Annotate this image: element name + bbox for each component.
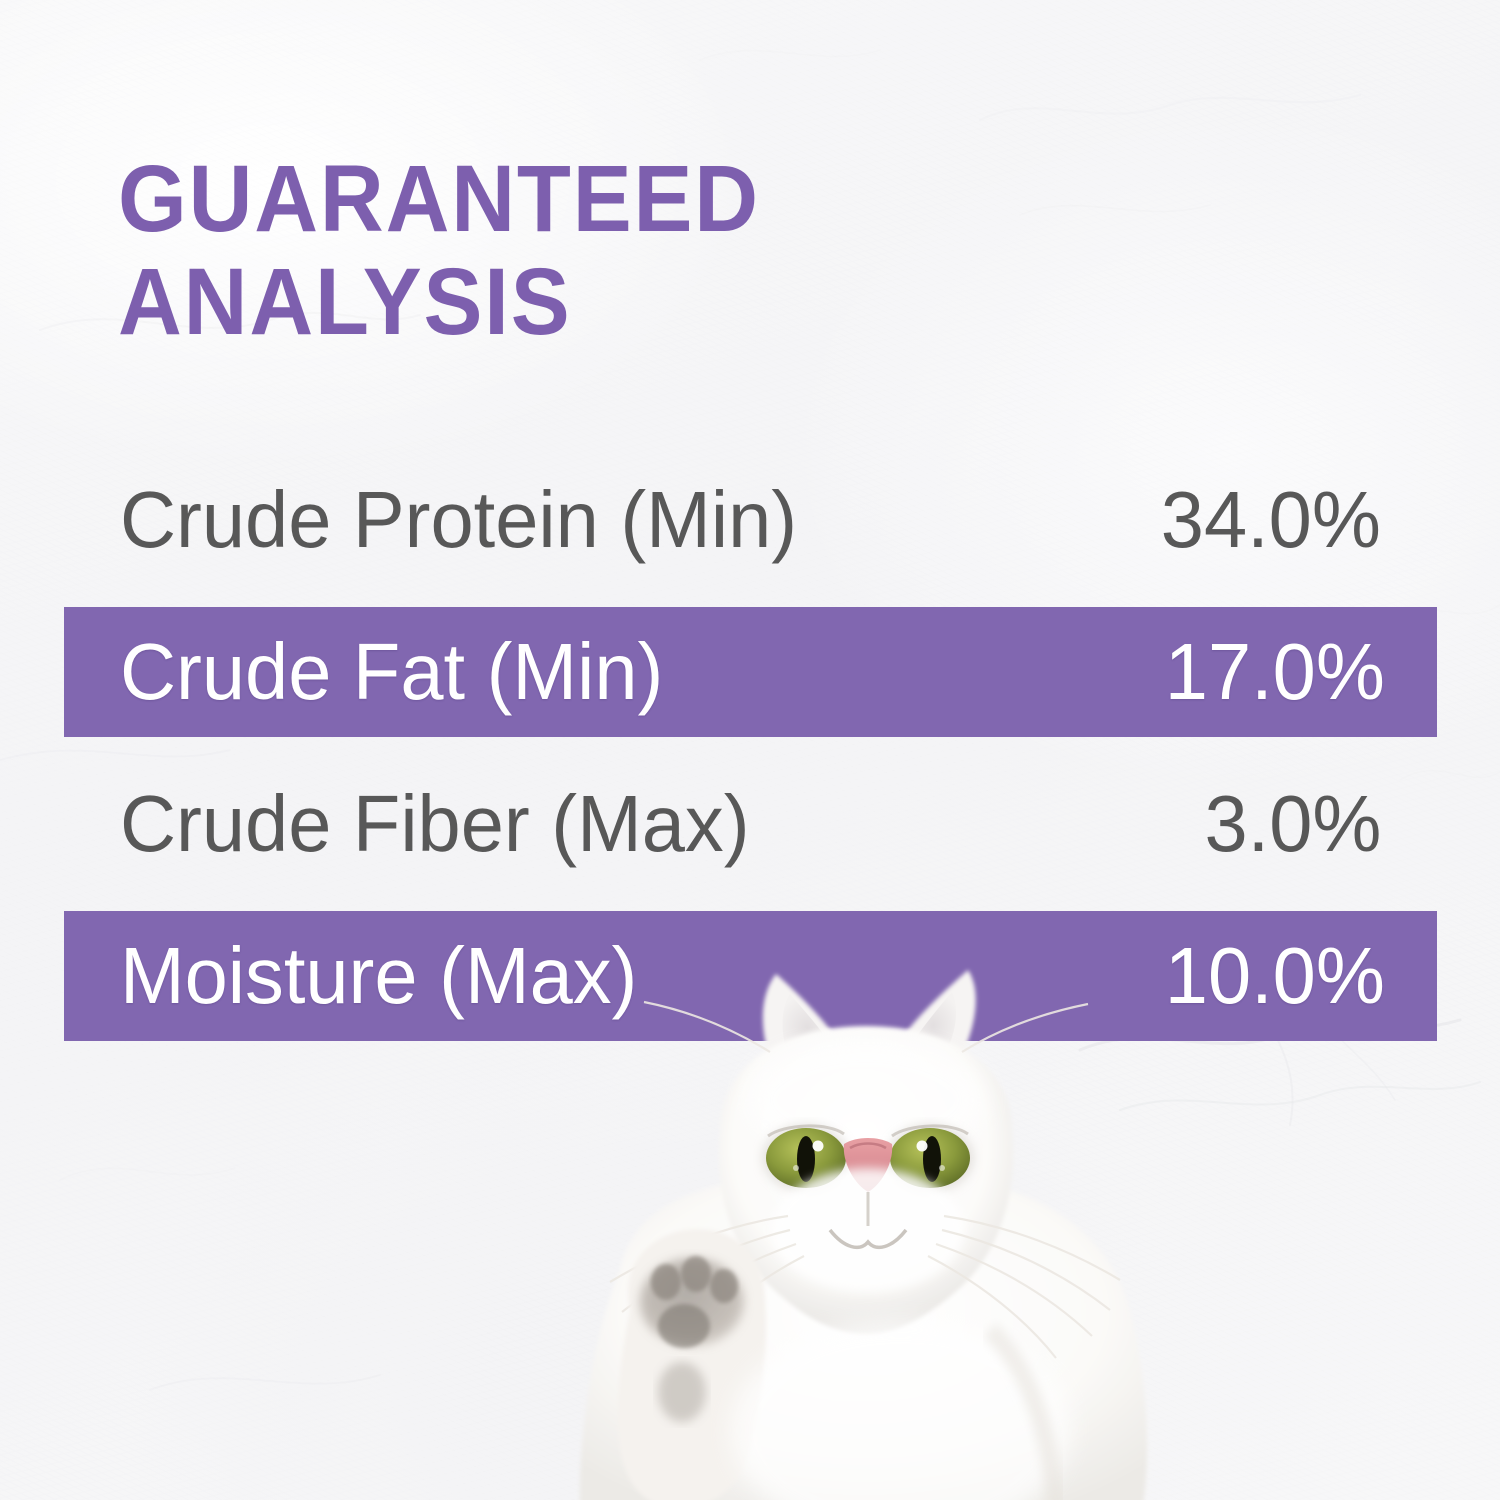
analysis-row-value: 3.0% xyxy=(1204,784,1381,864)
analysis-row-inner: Crude Fat (Min) 17.0% xyxy=(64,607,1437,737)
analysis-row-label: Crude Fiber (Max) xyxy=(120,784,750,864)
analysis-row-label: Moisture (Max) xyxy=(120,936,637,1016)
page-title: GUARANTEED ANALYSIS xyxy=(118,148,1048,354)
analysis-row-label: Crude Protein (Min) xyxy=(120,480,797,560)
analysis-row-crude-fat: Crude Fat (Min) 17.0% xyxy=(0,607,1500,759)
analysis-row-inner: Moisture (Max) 10.0% xyxy=(64,911,1437,1041)
analysis-row-crude-fiber: Crude Fiber (Max) 3.0% xyxy=(0,759,1500,911)
analysis-row-inner: Crude Fiber (Max) 3.0% xyxy=(64,759,1437,889)
analysis-table: Crude Protein (Min) 34.0% Crude Fat (Min… xyxy=(0,455,1500,1063)
analysis-row-inner: Crude Protein (Min) 34.0% xyxy=(64,455,1437,585)
guaranteed-analysis-panel: GUARANTEED ANALYSIS Crude Protein (Min) … xyxy=(0,0,1500,1500)
analysis-row-crude-protein: Crude Protein (Min) 34.0% xyxy=(0,455,1500,607)
analysis-row-label: Crude Fat (Min) xyxy=(120,632,663,712)
analysis-row-value: 10.0% xyxy=(1165,936,1385,1016)
analysis-row-moisture: Moisture (Max) 10.0% xyxy=(0,911,1500,1063)
analysis-row-value: 34.0% xyxy=(1161,480,1381,560)
analysis-row-value: 17.0% xyxy=(1165,632,1385,712)
